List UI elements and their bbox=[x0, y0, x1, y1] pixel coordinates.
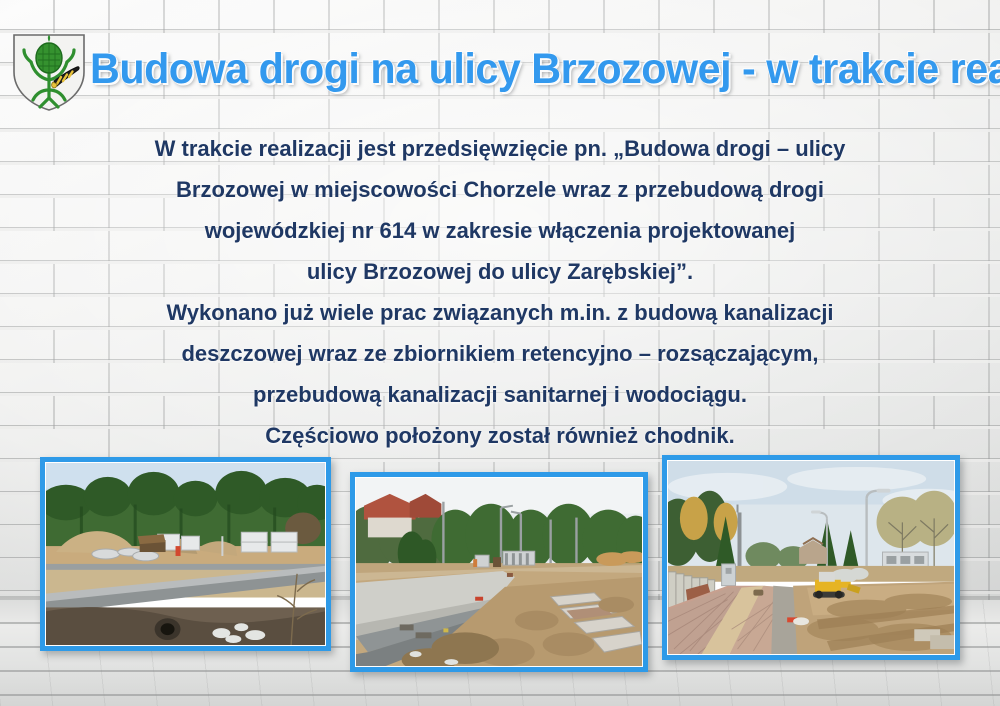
photo-construction-site-2[interactable] bbox=[350, 472, 648, 672]
paragraph-2-line-4: Częściowo położony został również chodni… bbox=[40, 415, 960, 456]
photo-2-canvas bbox=[356, 478, 642, 666]
paragraph-2-line-1: Wykonano już wiele prac związanych m.in.… bbox=[40, 292, 960, 333]
paragraph-1-line-3: wojewódzkiej nr 614 w zakresie włączenia… bbox=[40, 210, 960, 251]
photo-construction-site-1[interactable] bbox=[40, 457, 331, 651]
paragraph-1-line-2: Brzozowej w miejscowości Chorzele wraz z… bbox=[40, 169, 960, 210]
poster-body: W trakcie realizacji jest przedsięwzięci… bbox=[40, 128, 960, 456]
paragraph-2-line-3: przebudową kanalizacji sanitarnej i wodo… bbox=[40, 374, 960, 415]
photo-1-canvas bbox=[46, 463, 325, 645]
paragraph-1-line-1: W trakcie realizacji jest przedsięwzięci… bbox=[40, 128, 960, 169]
paragraph-1: W trakcie realizacji jest przedsięwzięci… bbox=[40, 128, 960, 292]
photo-3-canvas bbox=[668, 461, 954, 654]
paragraph-2-line-2: deszczowej wraz ze zbiornikiem retencyjn… bbox=[40, 333, 960, 374]
poster-title: Budowa drogi na ulicy Brzozowej - w trak… bbox=[90, 38, 990, 100]
poster-title-text: Budowa drogi na ulicy Brzozowej - w trak… bbox=[90, 47, 1000, 91]
paragraph-2: Wykonano już wiele prac związanych m.in.… bbox=[40, 292, 960, 456]
poster: Budowa drogi na ulicy Brzozowej - w trak… bbox=[0, 0, 1000, 706]
photo-construction-site-3[interactable] bbox=[662, 455, 960, 660]
coat-of-arms-icon bbox=[10, 32, 88, 112]
paragraph-1-line-4: ulicy Brzozowej do ulicy Zarębskiej”. bbox=[40, 251, 960, 292]
